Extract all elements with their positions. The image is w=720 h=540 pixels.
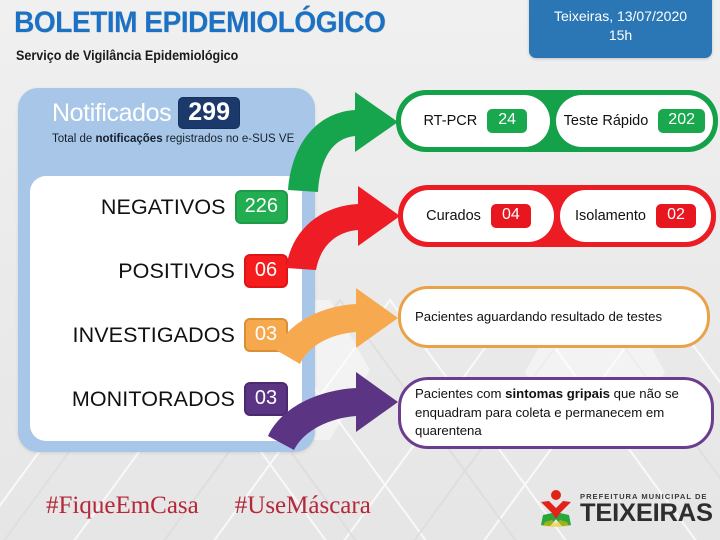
- teixeiras-person-icon: [538, 489, 574, 527]
- tests-label-rapido: Teste Rápido: [564, 113, 649, 129]
- stat-row-negativos: NEGATIVOS 226: [101, 190, 288, 224]
- date-badge: Teixeiras, 13/07/2020 15h: [529, 0, 712, 58]
- tests-value-rapido: 202: [658, 109, 705, 133]
- logo-city-name: TEIXEIRAS: [580, 501, 713, 525]
- positives-card: Curados 04 Isolamento 02: [398, 185, 716, 247]
- monitored-card-text: Pacientes com sintomas gripais que não s…: [415, 385, 697, 441]
- stat-label-positivos: POSITIVOS: [118, 259, 235, 284]
- monitored-text-bold: sintomas gripais: [505, 386, 610, 401]
- page-subtitle: Serviço de Vigilância Epidemiológico: [16, 48, 238, 63]
- stat-label-negativos: NEGATIVOS: [101, 195, 226, 220]
- stat-label-investigados: INVESTIGADOS: [73, 323, 235, 348]
- tests-label-rtpcr: RT-PCR: [423, 113, 477, 129]
- notified-description-prefix: Total de: [52, 133, 95, 145]
- notified-label: Notificados: [52, 99, 171, 128]
- investigated-card-text: Pacientes aguardando resultado de testes: [415, 308, 662, 327]
- stat-value-positivos: 06: [244, 254, 288, 288]
- city-hall-logo: PREFEITURA MUNICIPAL DE TEIXEIRAS: [538, 486, 710, 530]
- notified-description: Total de notificações registrados no e-S…: [30, 132, 303, 147]
- positives-value-isolamento: 02: [656, 204, 696, 228]
- monitored-text-prefix: Pacientes com: [415, 386, 505, 401]
- hashtag-fique-em-casa: #FiqueEmCasa: [46, 492, 199, 520]
- date-line-2: 15h: [529, 26, 712, 45]
- tests-pill-rtpcr: RT-PCR 24: [401, 95, 550, 147]
- hashtag-use-mascara: #UseMáscara: [235, 492, 371, 520]
- investigated-card: Pacientes aguardando resultado de testes: [398, 286, 710, 348]
- date-line-1: Teixeiras, 13/07/2020: [529, 7, 712, 26]
- stat-value-monitorados: 03: [244, 382, 288, 416]
- positives-value-curados: 04: [491, 204, 531, 228]
- positives-label-isolamento: Isolamento: [575, 208, 646, 224]
- stat-label-monitorados: MONITORADOS: [72, 387, 235, 412]
- stat-row-positivos: POSITIVOS 06: [118, 254, 288, 288]
- stat-row-investigados: INVESTIGADOS 03: [73, 318, 288, 352]
- positives-pill-curados: Curados 04: [403, 190, 554, 242]
- notifications-panel: Notificados 299 Total de notificações re…: [18, 88, 315, 452]
- tests-pill-rapido: Teste Rápido 202: [556, 95, 713, 147]
- positives-label-curados: Curados: [426, 208, 481, 224]
- monitored-card: Pacientes com sintomas gripais que não s…: [398, 377, 714, 449]
- tests-value-rtpcr: 24: [487, 109, 527, 133]
- logo-text-block: PREFEITURA MUNICIPAL DE TEIXEIRAS: [580, 492, 710, 525]
- positives-pill-isolamento: Isolamento 02: [560, 190, 711, 242]
- notified-value-badge: 299: [178, 97, 240, 129]
- stats-card: NEGATIVOS 226 POSITIVOS 06 INVESTIGADOS …: [30, 176, 302, 441]
- stat-value-negativos: 226: [235, 190, 288, 224]
- stat-row-monitorados: MONITORADOS 03: [72, 382, 288, 416]
- stat-value-investigados: 03: [244, 318, 288, 352]
- notified-description-suffix: registrados no e-SUS VE: [163, 133, 295, 145]
- notified-header: Notificados 299: [30, 96, 303, 130]
- hashtags: #FiqueEmCasa #UseMáscara: [46, 492, 371, 520]
- page-title: BOLETIM EPIDEMIOLÓGICO: [14, 6, 385, 40]
- tests-card: RT-PCR 24 Teste Rápido 202: [396, 90, 718, 152]
- notified-description-bold: notificações: [95, 133, 162, 145]
